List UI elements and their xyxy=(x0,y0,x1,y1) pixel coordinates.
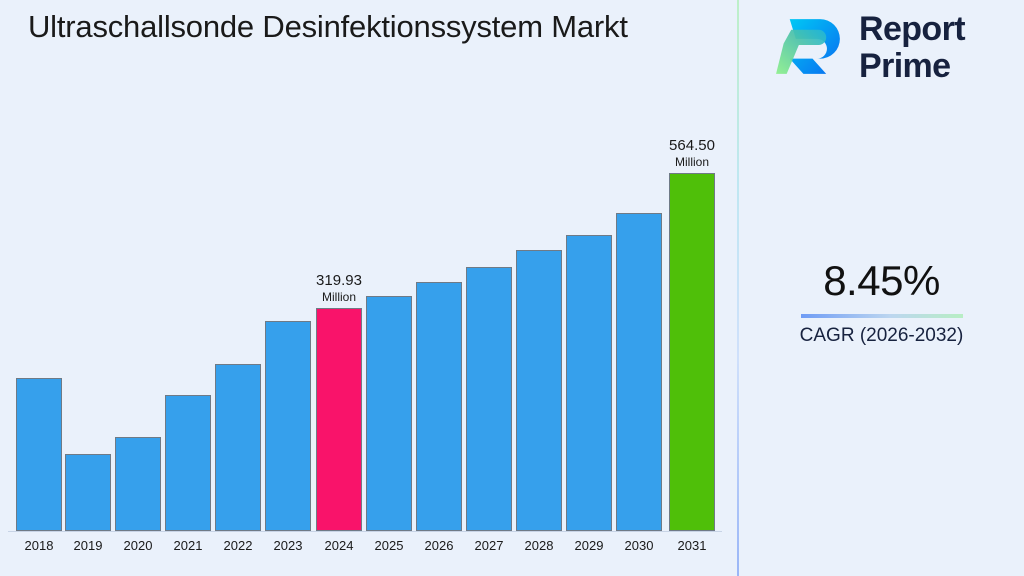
bar-column-2021 xyxy=(165,395,211,531)
bar-label-2031: 564.50 Million xyxy=(632,137,752,170)
bar-2025[interactable] xyxy=(366,296,412,531)
bar-2019[interactable] xyxy=(65,454,111,531)
bar-label-2031-unit: Million xyxy=(632,155,752,170)
bar-2028[interactable] xyxy=(516,250,562,531)
bar-label-2031-value: 564.50 xyxy=(632,137,752,155)
bar-2030[interactable] xyxy=(616,213,662,531)
bar-column-2019 xyxy=(65,454,111,531)
bar-column-2028 xyxy=(516,250,562,531)
x-tick-2031: 2031 xyxy=(662,538,722,553)
bar-2031[interactable] xyxy=(669,173,715,531)
bar-2020[interactable] xyxy=(115,437,161,531)
x-axis-baseline xyxy=(8,531,722,532)
brand-wordmark-line2: Prime xyxy=(859,48,965,85)
cagr-label: CAGR (2026-2032) xyxy=(739,324,1024,348)
bar-column-2025 xyxy=(366,296,412,531)
brand-wordmark-line1: Report xyxy=(859,11,965,48)
bar-label-2024-value: 319.93 xyxy=(279,272,399,290)
bar-2024[interactable] xyxy=(316,308,362,531)
bar-2022[interactable] xyxy=(215,364,261,531)
bar-column-2022 xyxy=(215,364,261,531)
x-tick-2030: 2030 xyxy=(609,538,669,553)
bar-2023[interactable] xyxy=(265,321,311,531)
bar-column-2023 xyxy=(265,321,311,531)
bar-column-2029 xyxy=(566,235,612,531)
brand-panel: Report Prime 8.45% CAGR (2026-2032) xyxy=(739,0,1024,576)
bar-column-2027 xyxy=(466,267,512,531)
bar-column-2018 xyxy=(16,378,62,531)
cagr-value: 8.45% xyxy=(739,255,1024,307)
chart-panel: Ultraschallsonde Desinfektionssystem Mar… xyxy=(0,0,737,576)
bar-2029[interactable] xyxy=(566,235,612,531)
report-prime-logo-icon xyxy=(773,10,849,86)
brand-logo[interactable]: Report Prime xyxy=(773,10,965,86)
bar-2021[interactable] xyxy=(165,395,211,531)
bar-column-2031: 564.50 Million xyxy=(669,173,715,531)
bar-column-2020 xyxy=(115,437,161,531)
cagr-block: 8.45% CAGR (2026-2032) xyxy=(739,255,1024,348)
bar-column-2026 xyxy=(416,282,462,531)
brand-wordmark: Report Prime xyxy=(859,11,965,84)
bar-2018[interactable] xyxy=(16,378,62,531)
bar-column-2030 xyxy=(616,213,662,531)
infographic-root: Ultraschallsonde Desinfektionssystem Mar… xyxy=(0,0,1024,576)
bar-chart: 319.93 Million xyxy=(0,0,737,576)
bar-column-2024: 319.93 Million xyxy=(316,308,362,531)
bar-2026[interactable] xyxy=(416,282,462,531)
bar-2027[interactable] xyxy=(466,267,512,531)
cagr-divider-rule xyxy=(801,314,963,318)
